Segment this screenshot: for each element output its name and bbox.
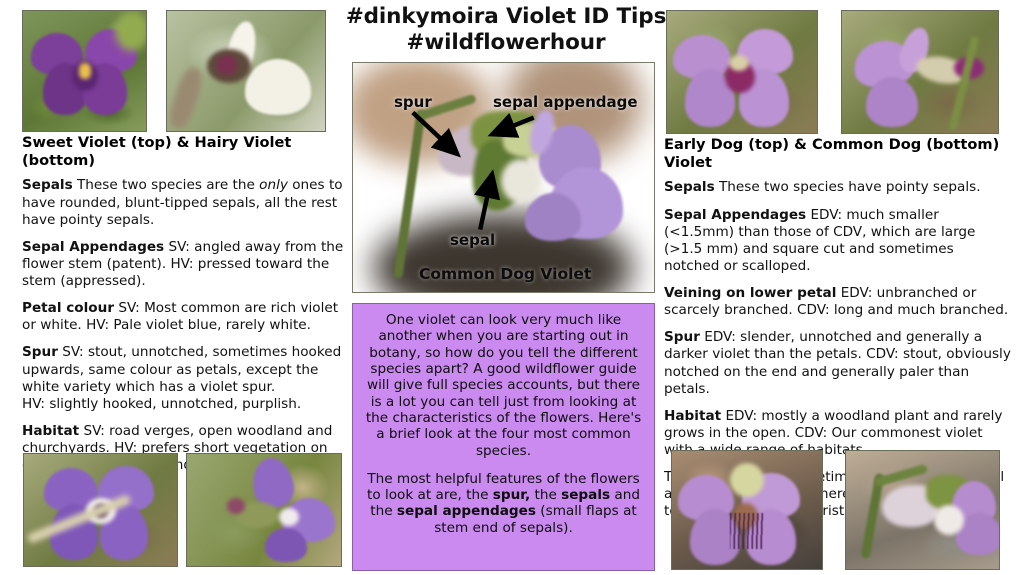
right-para-sepals-body: These two species have pointy sepals. bbox=[715, 179, 981, 195]
left-para-sepal-appendages-label: Sepal Appendages bbox=[22, 239, 164, 255]
left-para-spur-label: Spur bbox=[22, 344, 58, 360]
page-title: #dinkymoira Violet ID Tips #wildflowerho… bbox=[330, 4, 682, 56]
left-para-spur-second-line: HV: slightly hooked, unnotched, purplish… bbox=[22, 396, 301, 412]
left-column: Sweet Violet (top) & Hairy Violet (botto… bbox=[22, 134, 352, 484]
right-para-veining-label: Veining on lower petal bbox=[664, 285, 836, 301]
early-dog-violet-face-photo bbox=[666, 10, 818, 134]
intro-paragraph-1: One violet can look very much like anoth… bbox=[364, 312, 643, 459]
common-dog-violet-annotated-photo: spur sepal appendage sepal Common Dog Vi… bbox=[352, 62, 655, 293]
title-line-1: #dinkymoira Violet ID Tips bbox=[330, 4, 682, 30]
sweet-violet-flower-photo bbox=[22, 10, 147, 132]
intro-p2-sepals: sepals bbox=[561, 487, 610, 503]
annotation-sepal: sepal bbox=[450, 231, 495, 249]
right-para-habitat-label: Habitat bbox=[664, 408, 721, 424]
left-para-petal-colour-label: Petal colour bbox=[22, 300, 114, 316]
dog-violet-spur-profile-photo bbox=[845, 450, 1000, 570]
common-dog-violet-side-photo bbox=[841, 10, 999, 134]
annotation-spur: spur bbox=[394, 93, 432, 111]
left-para-sepals: Sepals These two species are the only on… bbox=[22, 177, 352, 228]
annotation-sepal-appendage: sepal appendage bbox=[493, 93, 638, 111]
right-column-heading: Early Dog (top) & Common Dog (bottom) Vi… bbox=[664, 136, 1012, 172]
left-column-heading: Sweet Violet (top) & Hairy Violet (botto… bbox=[22, 134, 352, 170]
left-para-habitat-label: Habitat bbox=[22, 423, 79, 439]
intro-panel: One violet can look very much like anoth… bbox=[352, 303, 655, 571]
left-para-sepals-pre: These two species are the bbox=[73, 177, 259, 193]
left-para-sepals-label: Sepals bbox=[22, 177, 73, 193]
title-line-2: #wildflowerhour bbox=[330, 30, 682, 56]
intro-p2-mid1: the bbox=[530, 487, 561, 503]
hairy-violet-white-flower-photo bbox=[166, 10, 326, 132]
right-para-spur-body: EDV: slender, unnotched and generally a … bbox=[664, 329, 1011, 396]
intro-paragraph-2: The most helpful features of the flowers… bbox=[364, 471, 643, 536]
right-para-spur-label: Spur bbox=[664, 329, 700, 345]
right-para-veining: Veining on lower petal EDV: unbranched o… bbox=[664, 285, 1012, 319]
violet-side-profile-photo bbox=[186, 453, 342, 567]
left-para-sepal-appendages: Sepal Appendages SV: angled away from th… bbox=[22, 239, 352, 290]
right-para-sepal-appendages: Sepal Appendages EDV: much smaller (<1.5… bbox=[664, 207, 1012, 276]
left-para-spur: Spur SV: stout, unnotched, sometimes hoo… bbox=[22, 344, 352, 413]
violet-face-on-photo bbox=[23, 453, 178, 567]
infographic-page: #dinkymoira Violet ID Tips #wildflowerho… bbox=[0, 0, 1024, 575]
dog-violet-face-veining-photo bbox=[671, 450, 823, 570]
right-para-sepal-appendages-label: Sepal Appendages bbox=[664, 207, 806, 223]
intro-p2-spur: spur, bbox=[493, 487, 530, 503]
center-photo-caption: Common Dog Violet bbox=[419, 265, 591, 283]
right-para-sepals: Sepals These two species have pointy sep… bbox=[664, 179, 1012, 196]
intro-p2-sepal-appendages: sepal appendages bbox=[397, 503, 536, 519]
right-para-spur: Spur EDV: slender, unnotched and general… bbox=[664, 329, 1012, 398]
left-para-spur-body: SV: stout, unnotched, sometimes hooked u… bbox=[22, 344, 341, 394]
right-para-sepals-label: Sepals bbox=[664, 179, 715, 195]
left-para-petal-colour: Petal colour SV: Most common are rich vi… bbox=[22, 300, 352, 334]
left-para-sepals-italic: only bbox=[259, 177, 288, 193]
